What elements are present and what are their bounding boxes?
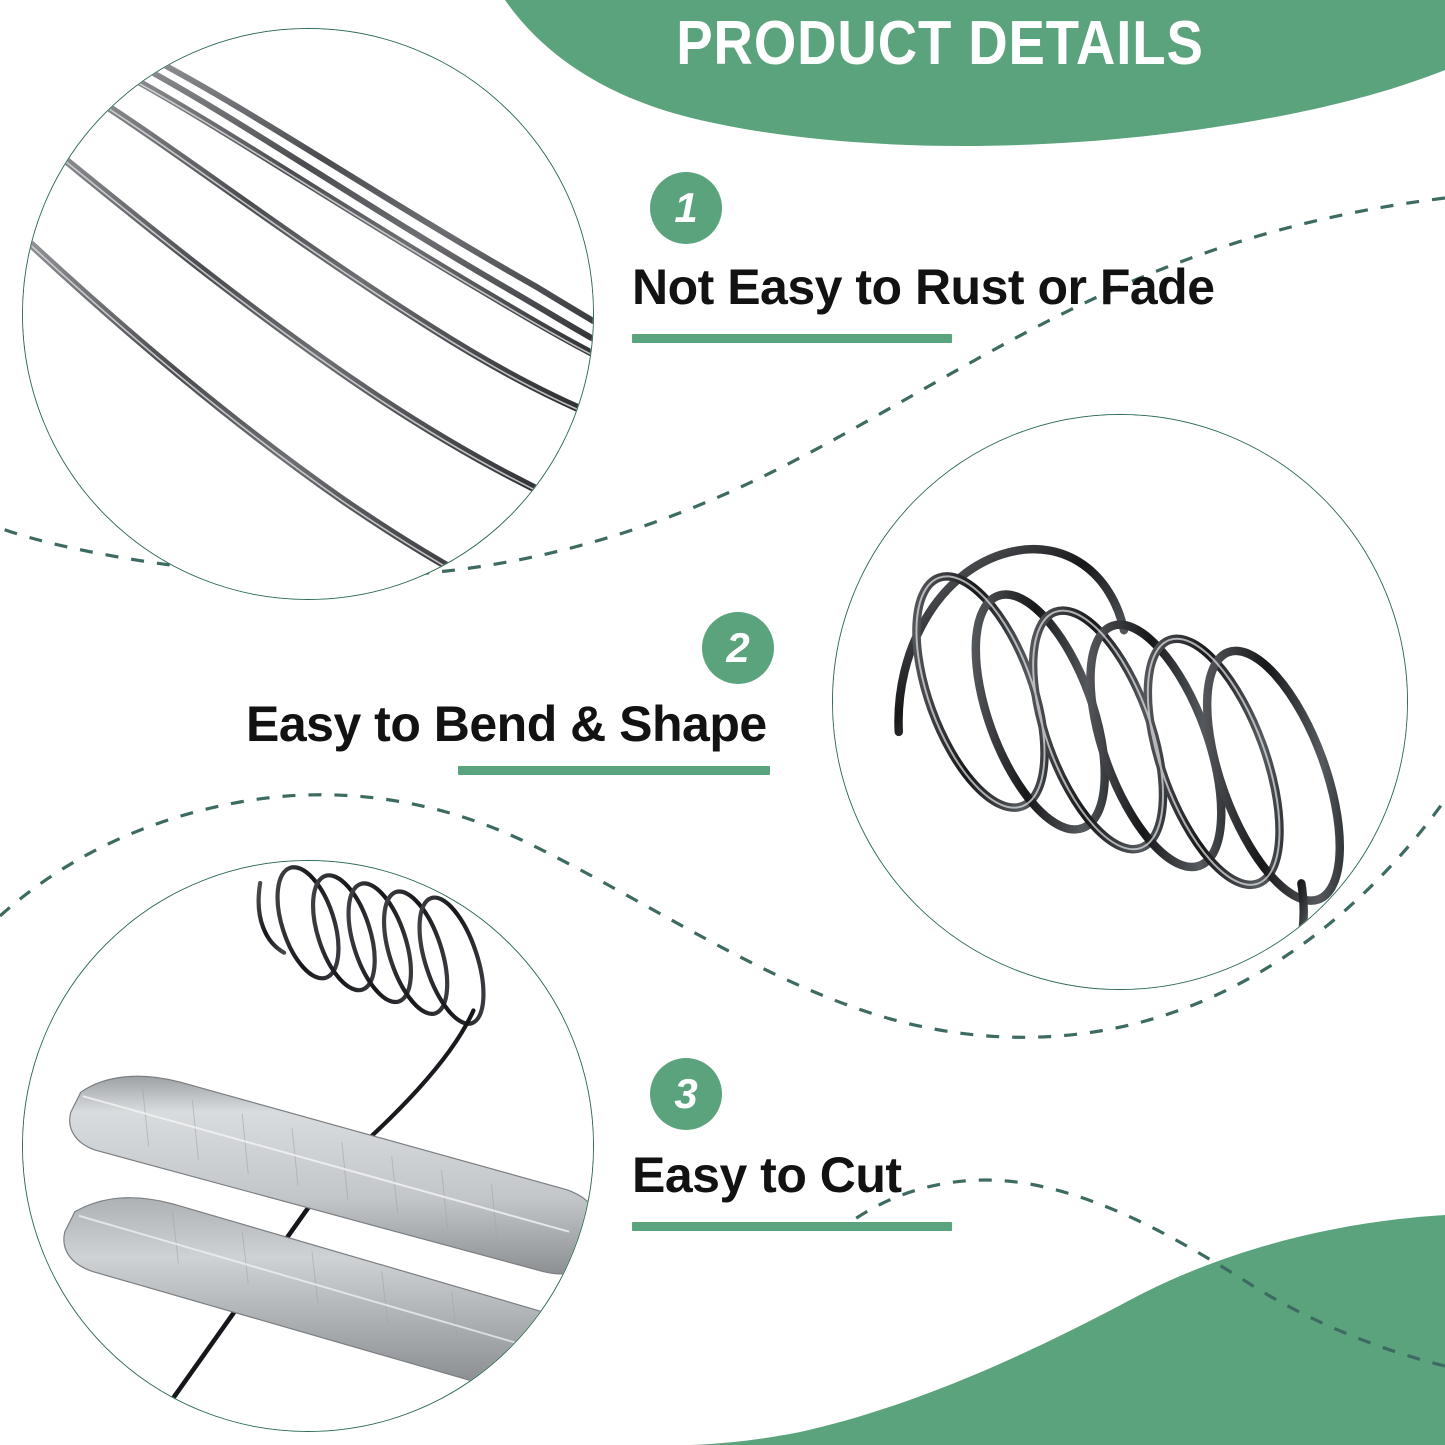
feature-title-3: Easy to Cut <box>632 1146 902 1204</box>
coiled-wire-spring-photo <box>833 415 1407 989</box>
photo-circle-coil-spring <box>832 414 1408 990</box>
page-title: PRODUCT DETAILS <box>658 8 1221 79</box>
product-details-infographic: PRODUCT DETAILS 1 Not Easy to Rust or Fa… <box>0 0 1445 1445</box>
feature-badge-3: 3 <box>650 1058 722 1130</box>
feature-title-1: Not Easy to Rust or Fade <box>632 258 1215 316</box>
dashed-curve-bottom <box>840 1180 1445 1366</box>
feature-underline-2 <box>458 766 770 775</box>
feature-badge-1: 1 <box>650 172 722 244</box>
photo-circle-scissors-cutting-wire <box>22 860 594 1432</box>
photo-circle-wire-strands <box>22 28 594 600</box>
feature-title-2: Easy to Bend & Shape <box>246 695 767 753</box>
feature-badge-2: 2 <box>702 612 774 684</box>
scissors-cutting-wire-photo <box>23 861 593 1431</box>
stainless-steel-wire-strands-photo <box>23 29 593 599</box>
feature-underline-3 <box>632 1222 952 1231</box>
feature-underline-1 <box>632 334 952 343</box>
